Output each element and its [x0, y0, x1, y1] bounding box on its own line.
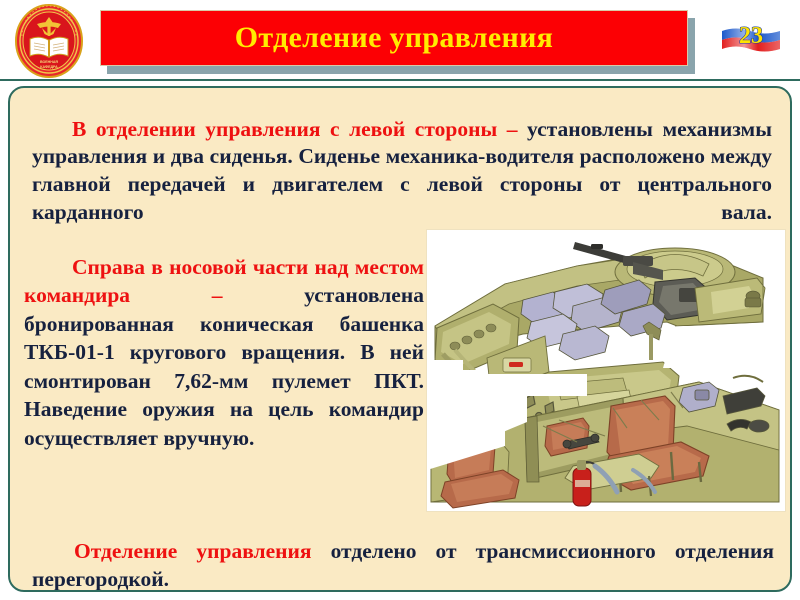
title-bar: Отделение управления	[100, 10, 688, 66]
emblem-caption-line-1: ВОЕННАЯ	[40, 60, 58, 64]
slide-root: ВОЕННАЯ КАФЕДРА Отделение управления	[0, 0, 800, 600]
slide-number-flag-badge: 23	[718, 15, 784, 59]
military-department-emblem: ВОЕННАЯ КАФЕДРА	[12, 4, 86, 78]
paragraph-commander-turret: Справа в носовой части над местом команд…	[24, 253, 424, 453]
slide-header: ВОЕННАЯ КАФЕДРА Отделение управления	[0, 0, 800, 82]
armored-vehicle-interior-cutaway	[426, 229, 786, 512]
emblem-caption-line-2: КАФЕДРА	[40, 65, 58, 69]
slide-number: 23	[739, 23, 763, 49]
header-divider	[0, 79, 800, 81]
paragraph-partition: Отделение управления отделено от трансми…	[32, 537, 774, 593]
paragraph-1-highlight: В отделении управления с левой стороны –	[72, 117, 527, 141]
page-title: Отделение управления	[235, 21, 553, 55]
paragraph-3-highlight: Отделение управления	[74, 539, 331, 563]
paragraph-2-rest: установлена бронированная коническая баш…	[24, 283, 424, 450]
content-panel: В отделении управления с левой стороны –…	[8, 86, 792, 592]
